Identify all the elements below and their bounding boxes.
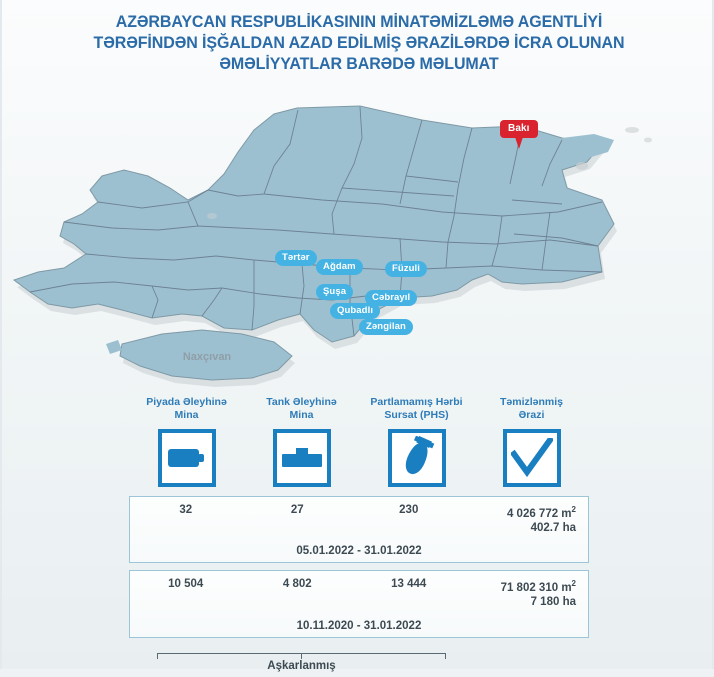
cell-area-m2: 4 026 772 m bbox=[507, 508, 572, 520]
header-line-1: Partlamamış Hərbi bbox=[359, 396, 474, 409]
infographic-page: AZƏRBAYCAN RESPUBLİKASININ MİNATƏMİZLƏMƏ… bbox=[0, 0, 714, 669]
cell-area-ha: 7 180 ha bbox=[531, 596, 576, 608]
row-period: 05.01.2022 - 31.01.2022 bbox=[130, 545, 588, 557]
header-line-1: Tank Əleyhinə bbox=[244, 396, 359, 409]
map-label-zangilan[interactable]: Zəngilan bbox=[359, 319, 413, 335]
cell-cleared-area: 4 026 772 m2 402.7 ha bbox=[465, 503, 589, 535]
title-line-2: TƏRƏFİNDƏN İŞĞALDAN AZAD EDİLMİŞ ƏRAZİLƏ… bbox=[13, 33, 706, 54]
row-period: 10.11.2020 - 31.01.2022 bbox=[130, 620, 588, 632]
header-line-1: Təmizlənmiş bbox=[474, 396, 589, 409]
statistics-section: Piyada Əleyhinə Mina Tank Əleyhinə Mina bbox=[2, 396, 714, 677]
icon-box-anti-tank-mine bbox=[273, 429, 331, 487]
map-label-agdam[interactable]: Ağdam bbox=[316, 259, 363, 275]
map-label-baku[interactable]: Bakı bbox=[500, 120, 538, 138]
bracket-label: Aşkarlanmış bbox=[129, 660, 474, 672]
cell-anti-personnel: 10 504 bbox=[130, 577, 242, 609]
cell-cleared-area: 71 802 310 m2 7 180 ha bbox=[465, 577, 589, 609]
icon-box-cleared-territory bbox=[503, 429, 561, 487]
detected-bracket: Aşkarlanmış bbox=[129, 645, 589, 677]
header-line-1: Piyada Əleyhinə bbox=[129, 396, 244, 409]
column-cleared-territory: Təmizlənmiş Ərazi bbox=[474, 396, 589, 487]
map-label-qubadli[interactable]: Qubadlı bbox=[330, 303, 380, 319]
cell-uxo: 230 bbox=[353, 503, 465, 535]
header-line-2: Ərazi bbox=[474, 409, 589, 422]
map-svg: Naxçıvan bbox=[2, 104, 714, 394]
icon-box-unexploded-ordnance bbox=[388, 429, 446, 487]
column-header-cleared: Təmizlənmiş Ərazi bbox=[474, 396, 589, 424]
data-rows: 32 27 230 4 026 772 m2 402.7 ha 05.01.20… bbox=[129, 496, 589, 638]
map-lake-mingachevir bbox=[207, 213, 217, 219]
map-lake bbox=[576, 162, 588, 170]
column-anti-personnel-mine: Piyada Əleyhinə Mina bbox=[129, 396, 244, 487]
column-header-anti-personnel: Piyada Əleyhinə Mina bbox=[129, 396, 244, 424]
header-line-2: Mina bbox=[244, 409, 359, 422]
row-values: 10 504 4 802 13 444 71 802 310 m2 7 180 … bbox=[130, 577, 588, 609]
map-label-naxcivan: Naxçıvan bbox=[183, 351, 232, 363]
anti-tank-mine-icon bbox=[281, 445, 323, 471]
map-nakhchivan-islet bbox=[106, 340, 122, 354]
column-anti-tank-mine: Tank Əleyhinə Mina bbox=[244, 396, 359, 487]
table-row: 10 504 4 802 13 444 71 802 310 m2 7 180 … bbox=[129, 570, 589, 638]
cell-area-m2-sup: 2 bbox=[572, 579, 576, 588]
cell-anti-tank: 27 bbox=[242, 503, 354, 535]
column-unexploded-ordnance: Partlamamış Hərbi Sursat (PHS) bbox=[359, 396, 474, 487]
row-values: 32 27 230 4 026 772 m2 402.7 ha bbox=[130, 503, 588, 535]
column-header-anti-tank: Tank Əleyhinə Mina bbox=[244, 396, 359, 424]
cell-area-m2: 71 802 310 m bbox=[501, 582, 572, 594]
title-line-3: ƏMƏLİYYATLAR BARƏDƏ MƏLUMAT bbox=[13, 54, 706, 75]
stats-columns: Piyada Əleyhinə Mina Tank Əleyhinə Mina bbox=[129, 396, 589, 487]
unexploded-ordnance-icon bbox=[397, 436, 437, 480]
icon-box-anti-personnel-mine bbox=[158, 429, 216, 487]
checkmark-icon bbox=[511, 438, 553, 478]
anti-personnel-mine-icon bbox=[167, 445, 207, 471]
cell-anti-personnel: 32 bbox=[130, 503, 242, 535]
map-label-shusha[interactable]: Şuşa bbox=[316, 284, 353, 300]
title-line-1: AZƏRBAYCAN RESPUBLİKASININ MİNATƏMİZLƏMƏ… bbox=[13, 12, 706, 33]
cell-area-m2-sup: 2 bbox=[572, 505, 576, 514]
map-island-a bbox=[625, 127, 639, 133]
page-title: AZƏRBAYCAN RESPUBLİKASININ MİNATƏMİZLƏMƏ… bbox=[13, 12, 706, 75]
table-row: 32 27 230 4 026 772 m2 402.7 ha 05.01.20… bbox=[129, 496, 589, 563]
bracket-mid-tick bbox=[301, 653, 302, 659]
azerbaijan-map: Naxçıvan Bakı Tərtər Ağdam Füzuli Şuşa C… bbox=[2, 104, 714, 394]
cell-uxo: 13 444 bbox=[353, 577, 465, 609]
cell-area-ha: 402.7 ha bbox=[531, 522, 576, 534]
map-label-tartar[interactable]: Tərtər bbox=[275, 250, 317, 266]
cell-anti-tank: 4 802 bbox=[242, 577, 354, 609]
header-line-2: Mina bbox=[129, 409, 244, 422]
header-line-2: Sursat (PHS) bbox=[359, 409, 474, 422]
map-island-b bbox=[644, 138, 652, 143]
column-header-uxo: Partlamamış Hərbi Sursat (PHS) bbox=[359, 396, 474, 424]
map-label-fuzuli[interactable]: Füzuli bbox=[385, 261, 427, 277]
